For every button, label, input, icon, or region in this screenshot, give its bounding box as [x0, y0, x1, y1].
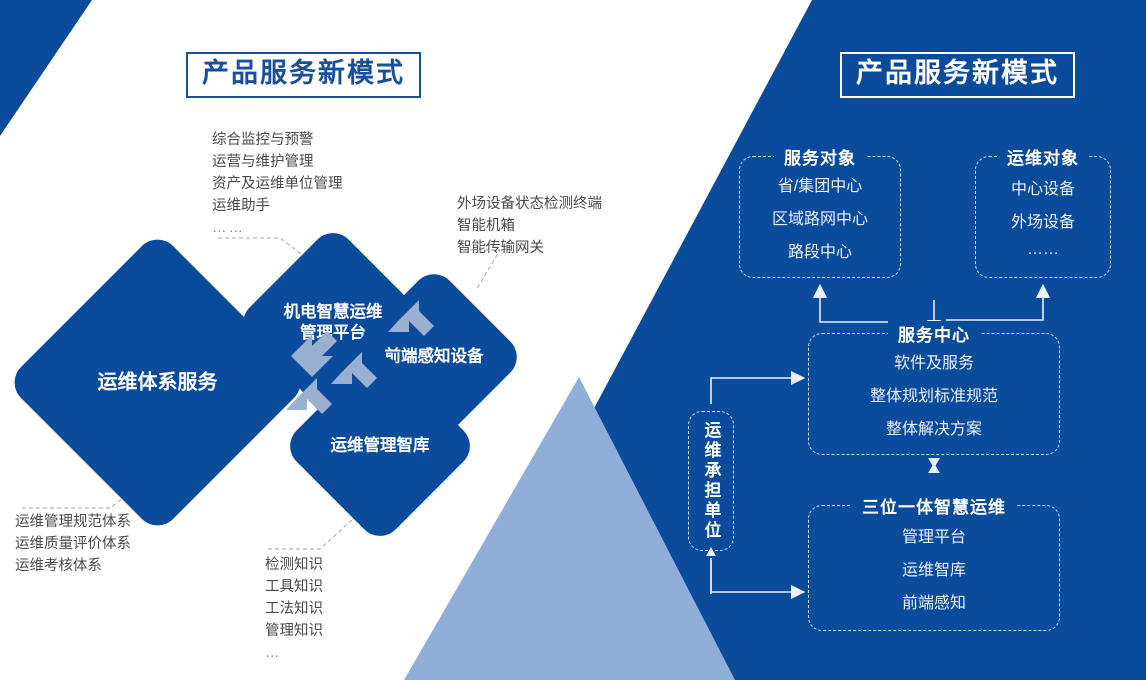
- box-om-responsible-unit[interactable]: 运维承担单位: [688, 411, 734, 551]
- box-body: 省/集团中心 区域路网中心 路段中心: [740, 157, 900, 277]
- box-item: 整体解决方案: [886, 415, 982, 439]
- box-item: 整体规划标准规范: [870, 382, 998, 406]
- box-item: 前端感知: [902, 589, 966, 613]
- box-body: 软件及服务 整体规划标准规范 整体解决方案: [809, 334, 1059, 454]
- box-trinity-smart-om[interactable]: 三位一体智慧运维 管理平台 运维智库 前端感知: [808, 505, 1060, 631]
- arrow-unit-to-service-center: [711, 378, 802, 404]
- arrow-center-to-service-object: [820, 287, 934, 322]
- box-body: 中心设备 外场设备 ……: [976, 157, 1110, 277]
- box-item: 区域路网中心: [772, 205, 868, 229]
- slide-canvas: 产品服务新模式 综合监控与预警 运营与维护管理 资产及运维单位管理 运维助手 ……: [0, 0, 1146, 680]
- box-item: 外场设备: [1011, 208, 1075, 232]
- box-item: 中心设备: [1011, 175, 1075, 199]
- arrow-trinity-row: [711, 558, 802, 592]
- box-header: 运维对象: [997, 144, 1089, 169]
- arrow-center-to-om-object: [946, 287, 1043, 320]
- box-item: 软件及服务: [894, 349, 974, 373]
- box-item: ……: [1027, 241, 1059, 259]
- box-item: 省/集团中心: [778, 172, 862, 196]
- box-service-center[interactable]: 服务中心 软件及服务 整体规划标准规范 整体解决方案: [808, 333, 1060, 455]
- box-item: 管理平台: [902, 523, 966, 547]
- box-header: 服务中心: [888, 321, 980, 346]
- box-item: 运维智库: [902, 556, 966, 580]
- box-vertical-label: 运维承担单位: [699, 421, 724, 541]
- box-item: 路段中心: [788, 238, 852, 262]
- box-header: 服务对象: [774, 144, 866, 169]
- arrow-up-trinity-center: [928, 463, 940, 473]
- box-body: 管理平台 运维智库 前端感知: [809, 506, 1059, 630]
- box-header: 三位一体智慧运维: [852, 493, 1016, 518]
- box-om-object[interactable]: 运维对象 中心设备 外场设备 ……: [975, 156, 1111, 278]
- box-service-object[interactable]: 服务对象 省/集团中心 区域路网中心 路段中心: [739, 156, 901, 278]
